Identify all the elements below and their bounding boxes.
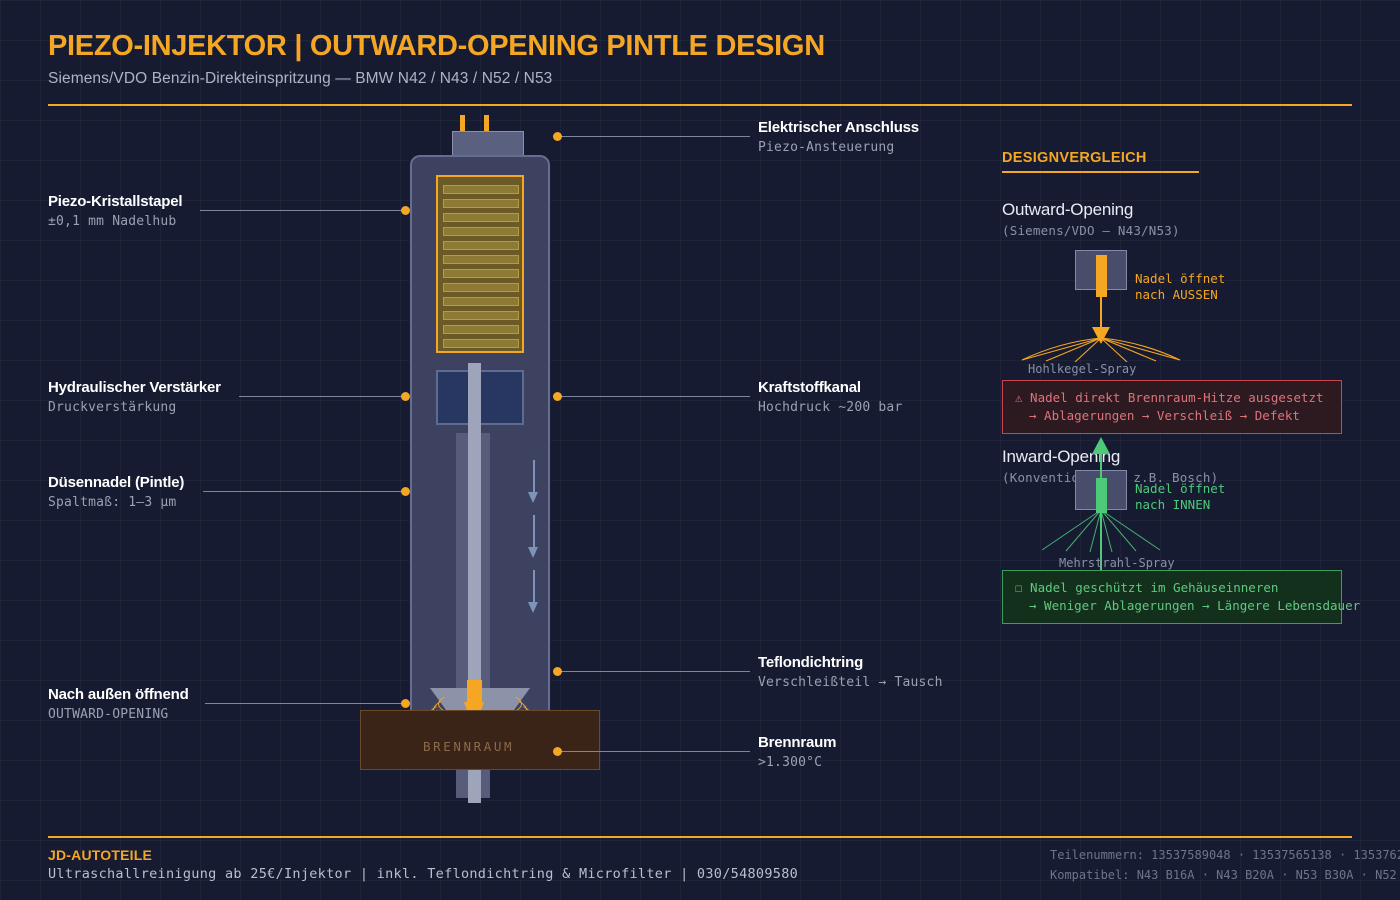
injector-diagram	[408, 115, 553, 725]
flow-arrow-2	[528, 515, 539, 516]
callout-title: Elektrischer Anschluss	[758, 119, 919, 136]
callout-sub: Hochdruck ~200 bar	[758, 400, 902, 415]
design-comparison-panel: DESIGNVERGLEICH	[1002, 150, 1352, 173]
inward-heading: Inward-Opening	[1002, 447, 1218, 467]
footer-part-info: Teilenummern: 13537589048 · 13537565138 …	[1050, 845, 1400, 885]
callout-sub: Spaltmaß: 1–3 µm	[48, 495, 184, 510]
leader-line	[239, 396, 408, 397]
callout-sub: OUTWARD-OPENING	[48, 707, 189, 722]
page-header: PIEZO-INJEKTOR | OUTWARD-OPENING PINTLE …	[48, 30, 1352, 88]
leader-line	[560, 136, 750, 137]
header-divider	[48, 104, 1352, 106]
callout-piezo-stack: Piezo-Kristallstapel ±0,1 mm Nadelhub	[48, 193, 182, 229]
callout-title: Kraftstoffkanal	[758, 379, 902, 396]
callout-title: Nach außen öffnend	[48, 686, 189, 703]
outward-mini-needle	[1096, 255, 1107, 297]
piezo-layer	[443, 325, 519, 334]
callout-title: Piezo-Kristallstapel	[48, 193, 182, 210]
inward-note-line1: Nadel öffnet	[1135, 481, 1225, 497]
piezo-layer	[443, 297, 519, 306]
callout-sub: Druckverstärkung	[48, 400, 221, 415]
piezo-layer	[443, 213, 519, 222]
piezo-layer	[443, 339, 519, 348]
inward-benefit-box: ☐ Nadel geschützt im Gehäuseinneren → We…	[1002, 570, 1342, 624]
piezo-layer	[443, 241, 519, 250]
outward-heading: Outward-Opening	[1002, 200, 1180, 220]
callout-sub: Verschleißteil → Tausch	[758, 675, 943, 690]
callout-title: Hydraulischer Verstärker	[48, 379, 221, 396]
callout-hydraulic-amplifier: Hydraulischer Verstärker Druckverstärkun…	[48, 379, 221, 415]
page-subtitle: Siemens/VDO Benzin-Direkteinspritzung — …	[48, 70, 1352, 88]
leader-line	[560, 396, 750, 397]
callout-sub: ±0,1 mm Nadelhub	[48, 214, 182, 229]
callout-teflon-seal: Teflondichtring Verschleißteil → Tausch	[758, 654, 943, 690]
leader-dot	[553, 747, 562, 756]
leader-line	[560, 751, 750, 752]
outward-heading-block: Outward-Opening (Siemens/VDO — N43/N53)	[1002, 200, 1180, 238]
footer-part-numbers: Teilenummern: 13537589048 · 13537565138 …	[1050, 845, 1400, 865]
outward-note: Nadel öffnet nach AUSSEN	[1135, 271, 1225, 302]
flow-arrow-1	[528, 460, 539, 461]
benefit-line-1: ☐ Nadel geschützt im Gehäuseinneren	[1015, 579, 1329, 597]
callout-title: Brennraum	[758, 734, 836, 751]
callout-sub: Piezo-Ansteuerung	[758, 140, 919, 155]
combustion-chamber: BRENNRAUM	[360, 710, 600, 770]
callout-combustion-chamber: Brennraum >1.300°C	[758, 734, 836, 770]
callout-electrical-connector: Elektrischer Anschluss Piezo-Ansteuerung	[758, 119, 919, 155]
inward-spray-caption: Mehrstrahl-Spray	[1059, 556, 1175, 570]
piezo-layer	[443, 255, 519, 264]
comparison-divider	[1002, 171, 1199, 173]
inward-arrow-head-icon	[1092, 437, 1110, 454]
benefit-line-2: → Weniger Ablagerungen → Längere Lebensd…	[1015, 597, 1329, 615]
piezo-crystal-stack	[436, 175, 524, 353]
leader-dot	[553, 392, 562, 401]
piezo-layer	[443, 311, 519, 320]
leader-line	[203, 491, 408, 492]
brand-name: JD-AUTOTEILE	[48, 847, 152, 863]
leader-dot	[553, 132, 562, 141]
piezo-layer	[443, 199, 519, 208]
page-title: PIEZO-INJEKTOR | OUTWARD-OPENING PINTLE …	[48, 30, 1352, 63]
footer-compatible: Kompatibel: N43 B16A · N43 B20A · N53 B3…	[1050, 865, 1400, 885]
flow-arrow-3	[528, 570, 539, 571]
comparison-title: DESIGNVERGLEICH	[1002, 150, 1352, 166]
leader-dot	[401, 392, 410, 401]
leader-line	[200, 210, 408, 211]
outward-spray-cone	[1020, 336, 1182, 362]
outward-subheading: (Siemens/VDO — N43/N53)	[1002, 223, 1180, 238]
outward-note-line1: Nadel öffnet	[1135, 271, 1225, 287]
leader-dot	[401, 206, 410, 215]
piezo-layer	[443, 269, 519, 278]
warning-line-2: → Ablagerungen → Verschleiß → Defekt	[1015, 407, 1329, 425]
footer-divider	[48, 836, 1352, 838]
leader-dot	[401, 487, 410, 496]
callout-title: Teflondichtring	[758, 654, 943, 671]
electrical-connector	[452, 131, 524, 157]
callout-fuel-channel: Kraftstoffkanal Hochdruck ~200 bar	[758, 379, 902, 415]
combustion-chamber-label: BRENNRAUM	[423, 739, 514, 754]
leader-dot	[401, 699, 410, 708]
piezo-layer	[443, 185, 519, 194]
leader-line	[560, 671, 750, 672]
outward-spray-caption: Hohlkegel-Spray	[1028, 362, 1136, 376]
callout-title: Düsennadel (Pintle)	[48, 474, 184, 491]
inward-spray-cone	[1040, 508, 1162, 552]
outward-arrow-shaft	[1100, 295, 1102, 331]
outward-warning-box: ⚠ Nadel direkt Brennraum-Hitze ausgesetz…	[1002, 380, 1342, 434]
piezo-layer	[443, 283, 519, 292]
callout-sub: >1.300°C	[758, 755, 836, 770]
footer-services: Ultraschallreinigung ab 25€/Injektor | i…	[48, 866, 798, 882]
callout-outward-opening: Nach außen öffnend OUTWARD-OPENING	[48, 686, 189, 722]
callout-nozzle-needle: Düsennadel (Pintle) Spaltmaß: 1–3 µm	[48, 474, 184, 510]
leader-dot	[553, 667, 562, 676]
outward-note-line2: nach AUSSEN	[1135, 287, 1225, 303]
piezo-layer	[443, 227, 519, 236]
warning-line-1: ⚠ Nadel direkt Brennraum-Hitze ausgesetz…	[1015, 389, 1329, 407]
leader-line	[205, 703, 408, 704]
